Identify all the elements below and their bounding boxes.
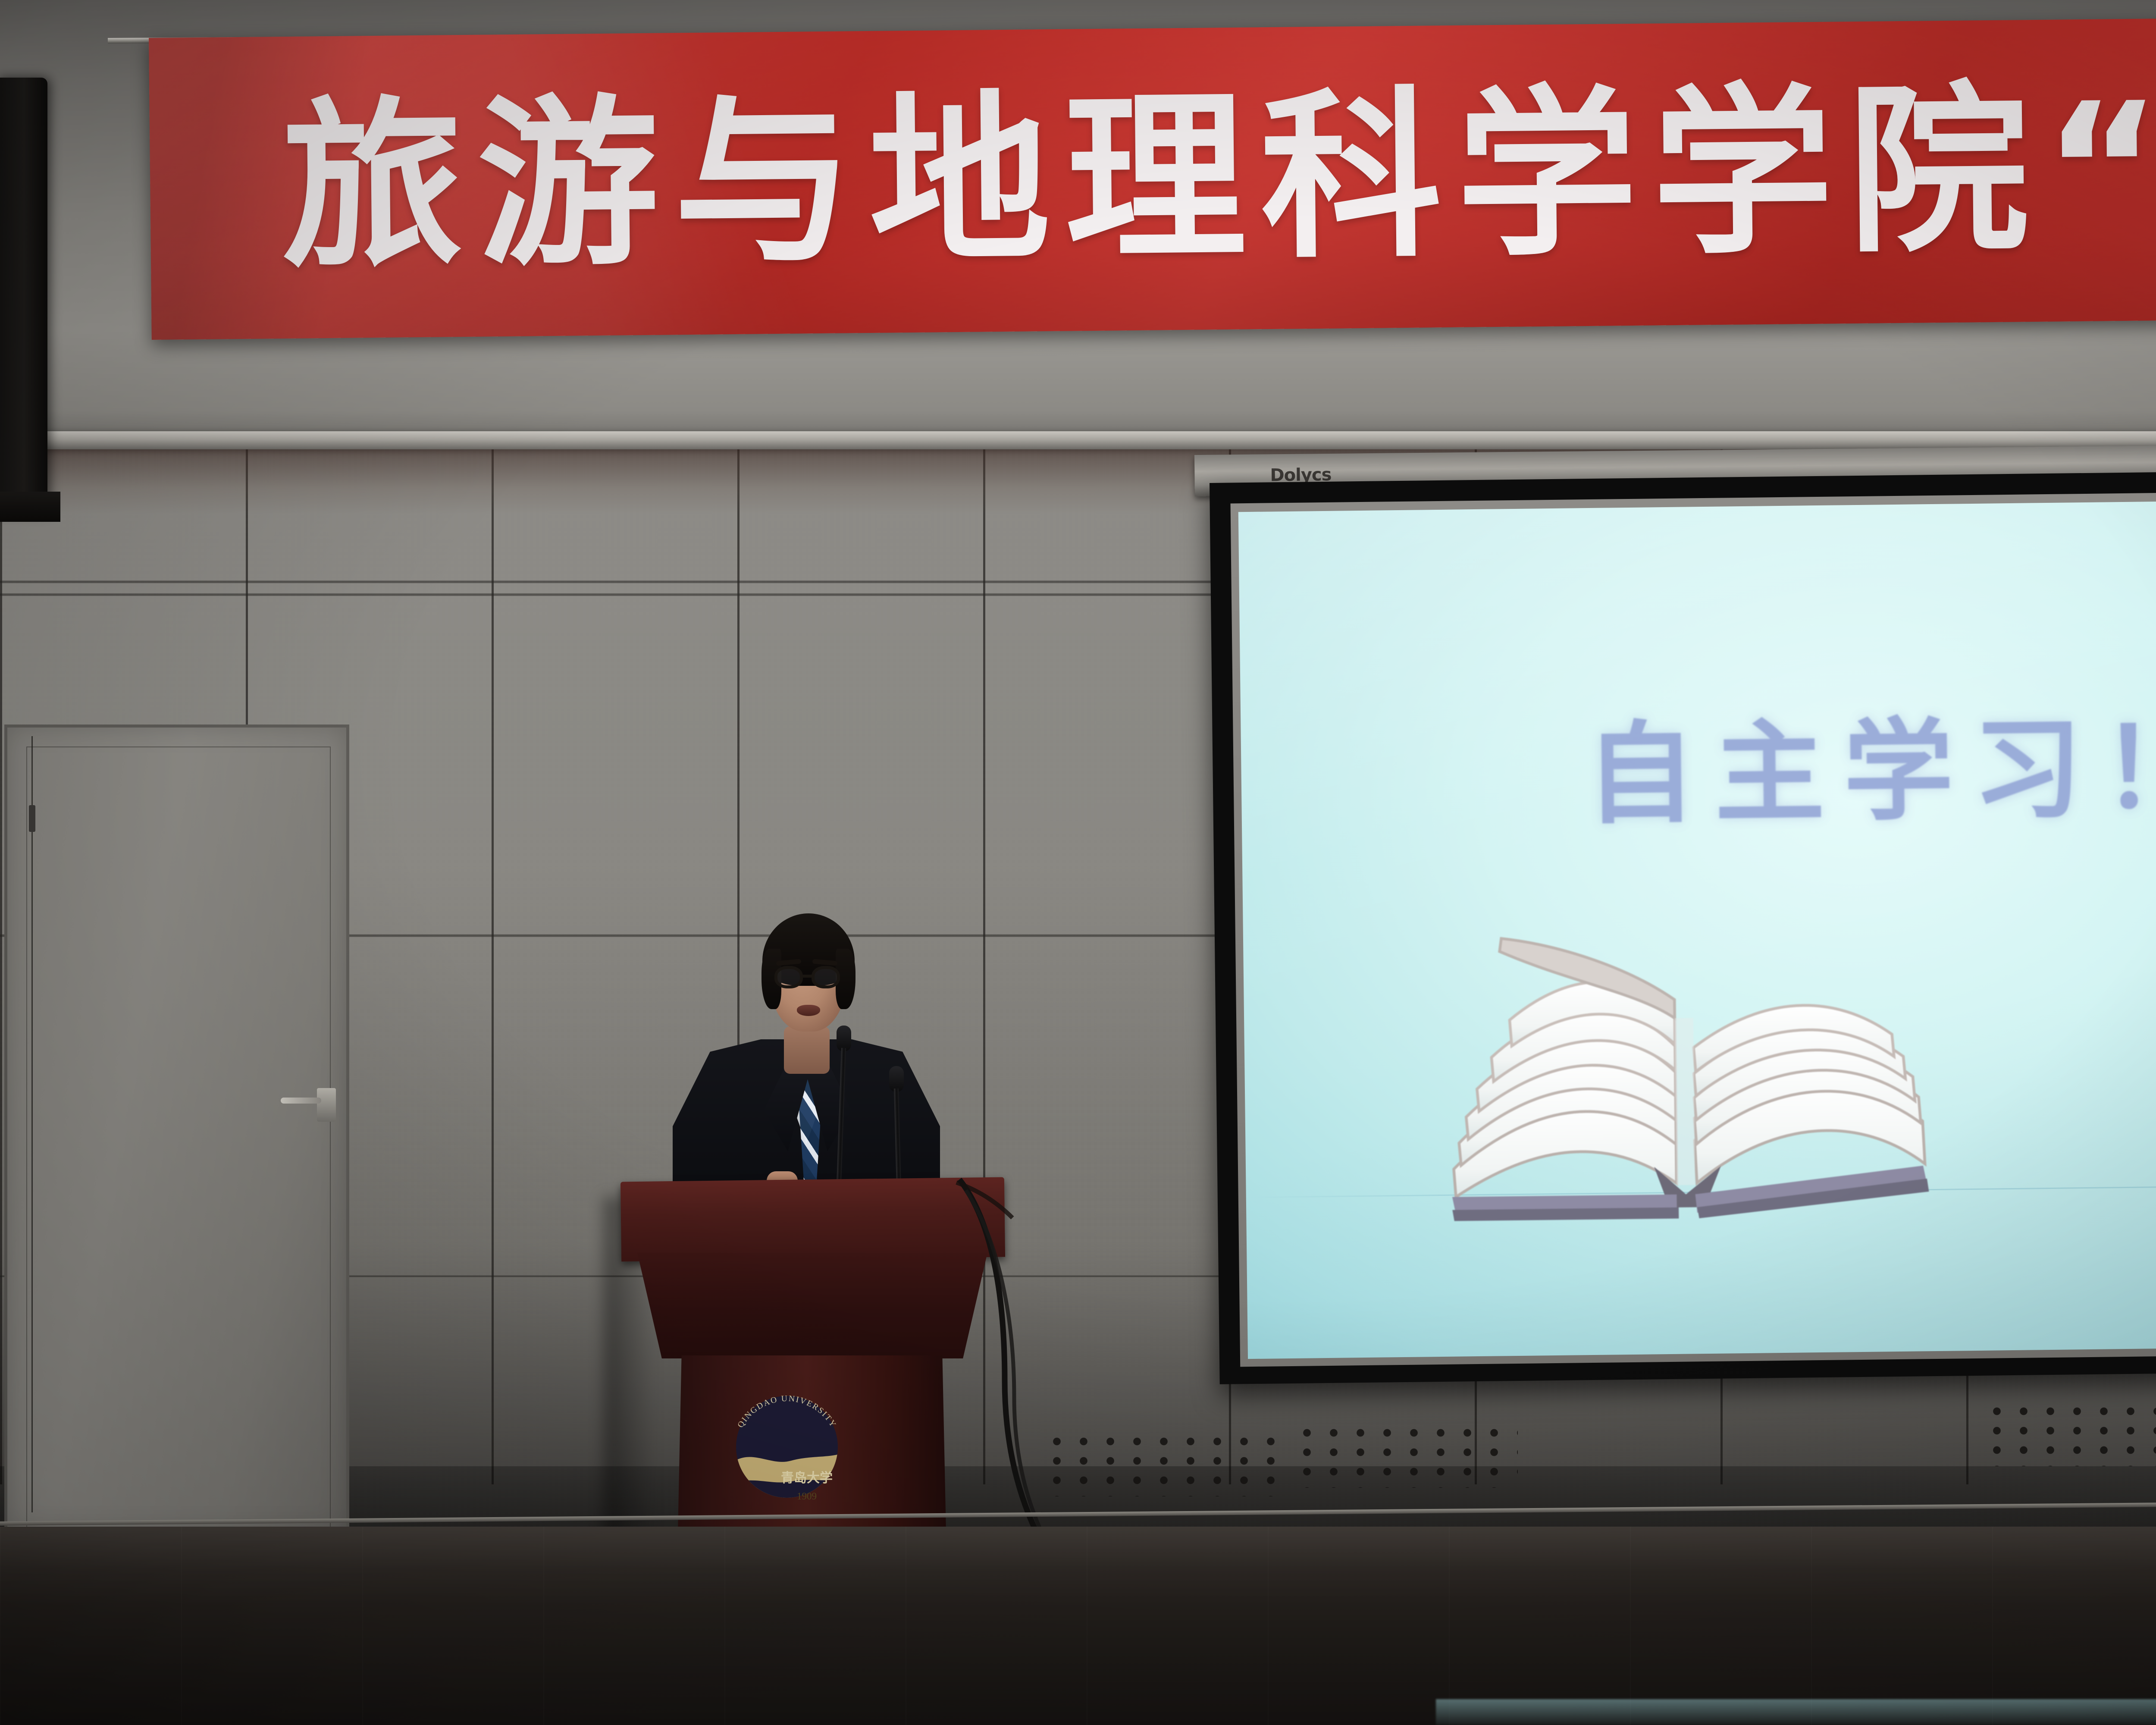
svg-text:1909: 1909 xyxy=(797,1491,817,1502)
glasses-lens-right xyxy=(812,966,840,988)
event-banner: 旅游与地理科学学院“理想路上，你 xyxy=(149,15,2156,340)
svg-text:青岛大学: 青岛大学 xyxy=(781,1471,833,1486)
podium-top-desk xyxy=(620,1177,1005,1262)
slide-title: 自主学习！ xyxy=(1240,675,2156,849)
door-chain xyxy=(31,736,33,1512)
door[interactable] xyxy=(4,724,349,1531)
left-speaker-column xyxy=(0,78,47,513)
projection-screen: 自主学习！ xyxy=(1238,497,2156,1359)
projection-screen-frame: 自主学习！ xyxy=(1210,467,2156,1384)
podium-front-face xyxy=(637,1253,987,1358)
glasses-lens-left xyxy=(774,966,803,988)
door-chain-weight xyxy=(29,805,35,832)
mouth xyxy=(797,1005,820,1016)
open-book-icon xyxy=(1376,884,1993,1281)
screen-glow-reflection xyxy=(1436,1699,2156,1725)
scene-root: 旅游与地理科学学院“理想路上，你 Dolycs 自主学习！ xyxy=(0,0,2156,1725)
door-panel-inset xyxy=(26,746,331,1531)
door-handle[interactable] xyxy=(317,1088,336,1122)
microphone-head xyxy=(837,1026,851,1051)
acoustic-vent xyxy=(1294,1423,1518,1488)
acoustic-vent xyxy=(1984,1402,2156,1466)
acoustic-vent xyxy=(1044,1432,1276,1496)
banner-text: 旅游与地理科学学院“理想路上，你 xyxy=(280,23,2156,330)
neck xyxy=(784,1026,830,1074)
floor-reflection xyxy=(0,1527,2156,1725)
door-lever[interactable] xyxy=(281,1098,321,1104)
university-emblem: QINGDAO UNIVERSITY 青岛大学 1909 xyxy=(722,1382,852,1512)
glasses-bridge xyxy=(803,975,812,978)
soffit-lip xyxy=(0,431,2156,449)
left-speaker-base xyxy=(0,492,60,522)
stage-floor xyxy=(0,1527,2156,1725)
